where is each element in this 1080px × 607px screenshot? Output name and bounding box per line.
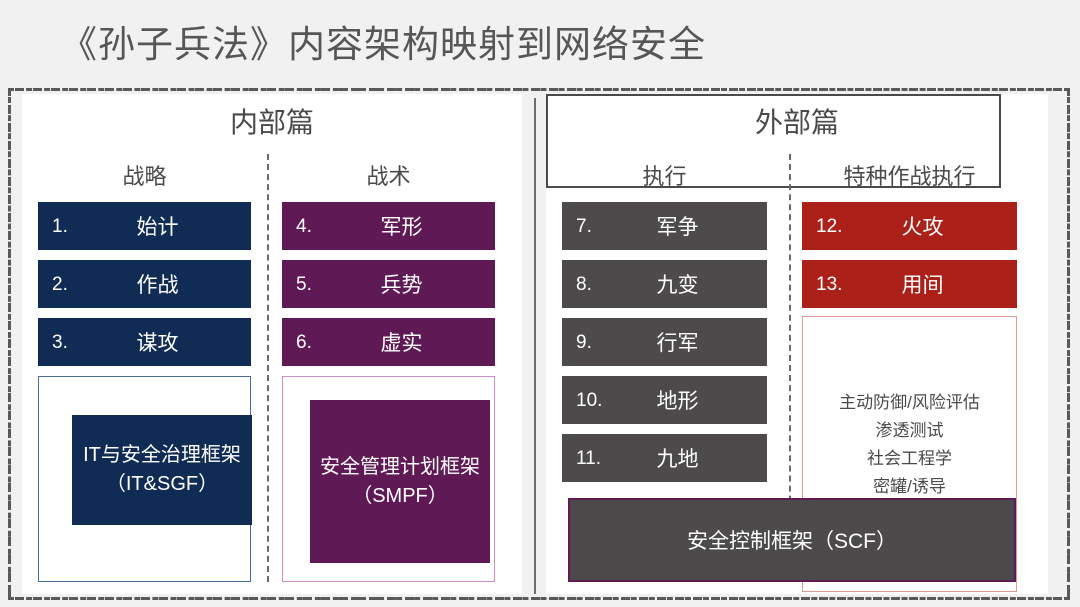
- column-strategy-heading: 战略: [38, 164, 251, 190]
- chapter-number: 2.: [52, 275, 68, 294]
- chapter-number: 10.: [576, 391, 602, 410]
- note-item: 主动防御/风险评估: [803, 389, 1016, 417]
- chapter-chip[interactable]: 4. 军形: [282, 202, 495, 250]
- column-divider-left: [267, 154, 269, 582]
- chapter-name: 虚实: [282, 327, 495, 357]
- chapter-number: 3.: [52, 333, 68, 352]
- page-title: 《孙子兵法》内容架构映射到网络安全: [60, 14, 706, 68]
- slide-canvas: 《孙子兵法》内容架构映射到网络安全 内部篇 战略 1. 始计 2. 作战 3. …: [0, 0, 1080, 607]
- chapter-name: 九变: [562, 269, 767, 299]
- chapter-name: 谋攻: [38, 327, 251, 357]
- panel-internal: 内部篇 战略 1. 始计 2. 作战 3. 谋攻 IT与安全治理框架（IT&SG…: [22, 94, 522, 594]
- chapter-chip[interactable]: 8. 九变: [562, 260, 767, 308]
- chapter-chip[interactable]: 3. 谋攻: [38, 318, 251, 366]
- chapter-number: 9.: [576, 333, 592, 352]
- chapter-name: 军争: [562, 211, 767, 241]
- column-tactics-heading: 战术: [282, 164, 495, 190]
- framework-box-smpf[interactable]: 安全管理计划框架（SMPF）: [282, 376, 495, 582]
- chapter-name: 行军: [562, 327, 767, 357]
- chapter-chip[interactable]: 10. 地形: [562, 376, 767, 424]
- framework-label-itsgf: IT与安全治理框架（IT&SGF）: [72, 415, 252, 525]
- chapter-chip[interactable]: 12. 火攻: [802, 202, 1017, 250]
- chapter-name: 兵势: [282, 269, 495, 299]
- panel-external-heading: 外部篇: [546, 101, 1048, 141]
- chapter-chip[interactable]: 5. 兵势: [282, 260, 495, 308]
- chapter-number: 8.: [576, 275, 592, 294]
- chapter-chip[interactable]: 7. 军争: [562, 202, 767, 250]
- note-item: 密罐/诱导: [803, 473, 1016, 501]
- chapter-number: 11.: [576, 449, 601, 468]
- chapter-number: 13.: [816, 275, 842, 294]
- chapter-number: 5.: [296, 275, 312, 294]
- chapter-chip[interactable]: 13. 用间: [802, 260, 1017, 308]
- chapter-number: 6.: [296, 333, 312, 352]
- column-execution: 执行 7. 军争 8. 九变 9. 行军 10. 地形 11. 九地: [562, 164, 767, 492]
- column-tactics: 战术 4. 军形 5. 兵势 6. 虚实: [282, 164, 495, 376]
- special-ops-notes-list: 主动防御/风险评估 渗透测试 社会工程学 密罐/诱导: [803, 389, 1016, 501]
- chapter-chip[interactable]: 1. 始计: [38, 202, 251, 250]
- column-special-ops-heading: 特种作战执行: [802, 164, 1017, 190]
- panel-external: 外部篇 执行 7. 军争 8. 九变 9. 行军 10. 地形 11.: [546, 94, 1048, 594]
- chapter-chip[interactable]: 2. 作战: [38, 260, 251, 308]
- chapter-name: 军形: [282, 211, 495, 241]
- chapter-chip[interactable]: 6. 虚实: [282, 318, 495, 366]
- framework-label-smpf: 安全管理计划框架（SMPF）: [310, 400, 490, 563]
- chapter-chip[interactable]: 9. 行军: [562, 318, 767, 366]
- panel-separator: [534, 98, 536, 594]
- framework-label-scf[interactable]: 安全控制框架（SCF）: [568, 498, 1016, 582]
- chapter-name: 作战: [38, 269, 251, 299]
- framework-box-itsgf[interactable]: IT与安全治理框架（IT&SGF）: [38, 376, 251, 582]
- chapter-number: 12.: [816, 217, 842, 236]
- column-strategy: 战略 1. 始计 2. 作战 3. 谋攻: [38, 164, 251, 376]
- note-item: 社会工程学: [803, 445, 1016, 473]
- chapter-name: 始计: [38, 211, 251, 241]
- note-item: 渗透测试: [803, 417, 1016, 445]
- chapter-number: 7.: [576, 217, 592, 236]
- chapter-number: 1.: [52, 217, 68, 236]
- column-special-ops: 特种作战执行 12. 火攻 13. 用间: [802, 164, 1017, 318]
- chapter-number: 4.: [296, 217, 312, 236]
- column-execution-heading: 执行: [562, 164, 767, 190]
- panel-internal-heading: 内部篇: [22, 101, 522, 141]
- chapter-chip[interactable]: 11. 九地: [562, 434, 767, 482]
